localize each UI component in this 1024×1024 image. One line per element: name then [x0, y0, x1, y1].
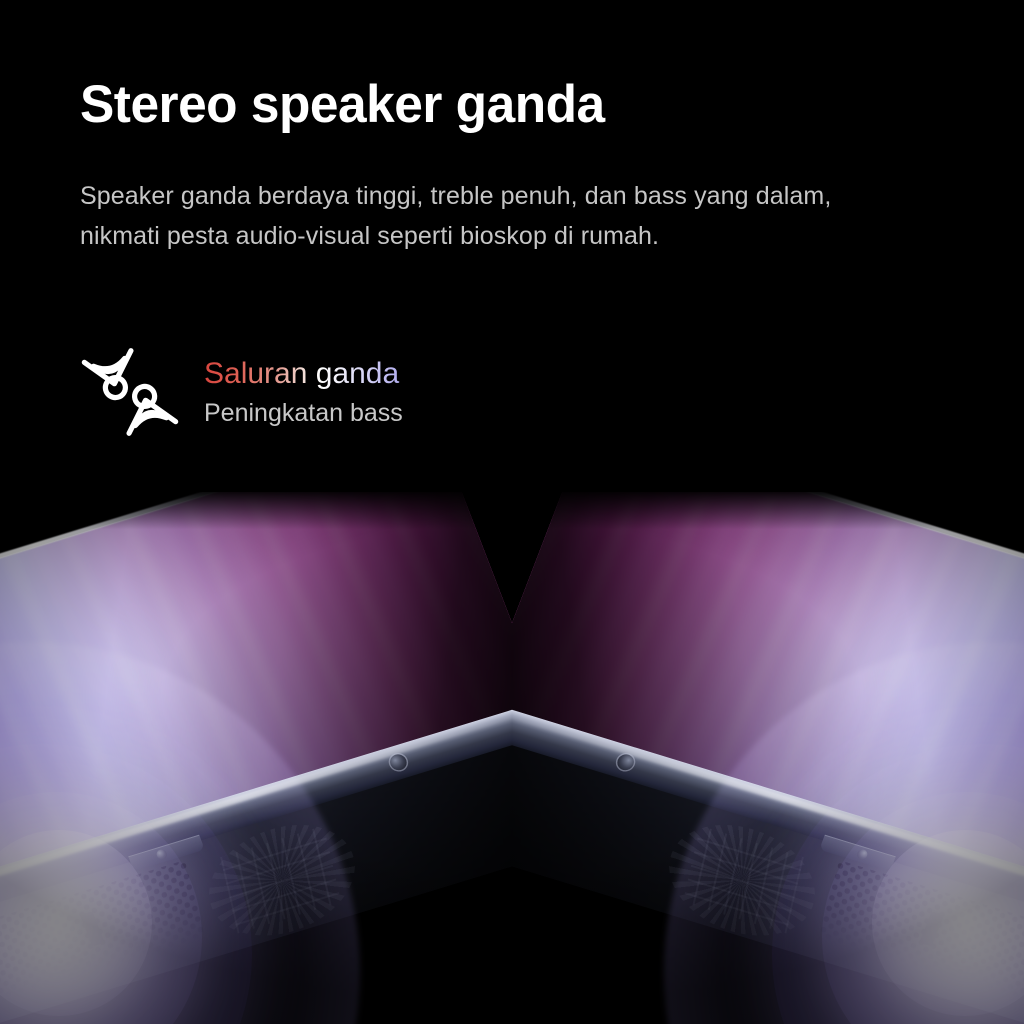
product-feature-page: Stereo speaker ganda Speaker ganda berda…: [0, 0, 1024, 1024]
device-body-right: [512, 492, 1024, 1024]
feature-title: Saluran ganda: [204, 357, 403, 392]
device-body-left: [0, 492, 512, 1024]
phone-left: [0, 492, 512, 1024]
hero-copy-block: Stereo speaker ganda Speaker ganda berda…: [80, 78, 940, 256]
feature-highlight-row: Saluran ganda Peningkatan bass: [78, 340, 403, 444]
feature-subtitle: Peningkatan bass: [204, 400, 403, 428]
hero-description: Speaker ganda berdaya tinggi, treble pen…: [80, 177, 916, 256]
page-title: Stereo speaker ganda: [80, 78, 914, 131]
dual-channel-speaker-icon: [78, 340, 182, 444]
feature-text-group: Saluran ganda Peningkatan bass: [204, 357, 403, 428]
phone-right: [512, 492, 1024, 1024]
product-scene: [0, 492, 1024, 1024]
